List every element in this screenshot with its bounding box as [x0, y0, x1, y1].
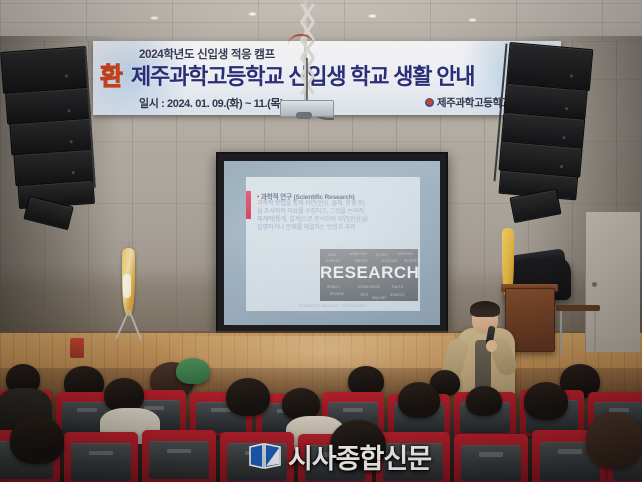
glasses-icon [475, 314, 495, 320]
open-book-logo-icon [248, 441, 282, 471]
banner-date-line: 일시 : 2024. 01. 09.(화) ~ 11.(목) [139, 95, 283, 111]
wordcloud-term: TEST [360, 293, 369, 297]
flag-cloth-white [123, 274, 131, 298]
seat [64, 432, 138, 482]
slide-body-line: 설명하거나 문제를 해결하는 방법과 과정 [257, 224, 414, 232]
presenter-hand-right [486, 340, 497, 352]
ceiling-light-icon [150, 16, 159, 20]
wordcloud-term: ANALYSIS [350, 252, 367, 256]
audience-head [104, 378, 144, 412]
side-table [556, 305, 600, 355]
projection-screen: • 과학적 연구 (Scientific Research) 과학적 방법을 통… [224, 161, 440, 325]
flag-stand-leg [115, 310, 130, 340]
ceiling-light-icon [468, 18, 477, 22]
wordcloud-main-word: RESEARCH [320, 263, 418, 283]
wordcloud-term: RESULT [327, 285, 341, 289]
wordcloud-term: REVIEW [330, 292, 344, 296]
research-wordcloud-image: DATA ANALYSIS STUDY METHOD SURVEY THEORY… [320, 249, 418, 301]
flag-stand-leg [128, 310, 142, 340]
wordcloud-term: SOURCE [390, 293, 405, 297]
wordcloud-term: STUDY [376, 253, 388, 257]
presentation-slide: • 과학적 연구 (Scientific Research) 과학적 방법을 통… [246, 177, 420, 311]
audience-head-green-hat [176, 358, 210, 384]
audience-head [524, 382, 568, 420]
slide-accent-bar [246, 191, 251, 219]
audience-head [586, 412, 642, 468]
seat [142, 430, 216, 482]
watermark: 시사종합신문 [248, 437, 431, 475]
seat [454, 434, 528, 482]
ceiling-light-icon [368, 14, 377, 18]
slide-footer: SCIENTIFIC METHOD · EXPERIMENT [246, 304, 420, 308]
school-emblem-icon [425, 98, 434, 107]
audience-head [226, 378, 270, 416]
side-table-leg [594, 311, 596, 355]
side-table-leg [560, 311, 562, 355]
door-knob-icon [592, 282, 597, 287]
flag-left [112, 248, 146, 344]
projector-lens-icon [296, 112, 312, 119]
wordcloud-term: INQUIRY [372, 296, 387, 300]
wordcloud-term: METHOD [398, 252, 413, 256]
slide-body-line: 을 조사하여 자료를 수집하고, 그것을 논리적, [257, 208, 414, 216]
ceiling-light-icon [248, 12, 257, 16]
wordcloud-term: FACTS [392, 285, 403, 289]
speaker-array-left [0, 44, 124, 222]
slide-body-line: 과학적 방법을 통해 자연(현상, 물체, 환경 등) [257, 200, 414, 208]
wordcloud-term: DATA [328, 253, 337, 257]
projection-screen-frame: • 과학적 연구 (Scientific Research) 과학적 방법을 통… [216, 152, 448, 334]
speaker-array-right [489, 41, 616, 222]
wordcloud-term: KNOWLEDGE [358, 285, 381, 289]
fire-extinguisher-icon [70, 338, 84, 358]
audience-head [466, 386, 502, 416]
slide-body: 과학적 방법을 통해 자연(현상, 물체, 환경 등) 을 조사하여 자료를 수… [257, 200, 414, 232]
projector-lift [270, 0, 342, 118]
watermark-text: 시사종합신문 [288, 437, 431, 476]
photograph: 환 영 2024학년도 신입생 적응 캠프 제주과학고등학교 신입생 학교 생활… [0, 0, 642, 482]
audience-head [10, 416, 64, 464]
audience-head [398, 382, 440, 418]
